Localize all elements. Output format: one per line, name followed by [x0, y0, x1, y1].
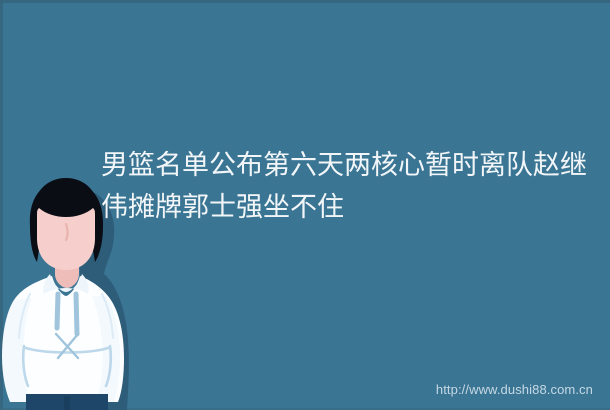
headline-text: 男篮名单公布第六天两核心暂时离队赵继伟摊牌郭士强坐不住: [101, 144, 601, 228]
card-top-edge: [0, 0, 610, 3]
trousers: [26, 394, 108, 410]
site-watermark: http://www.dushi88.com.cn: [436, 382, 593, 398]
news-thumbnail-card: 男篮名单公布第六天两核心暂时离队赵继伟摊牌郭士强坐不住 http://www.d…: [0, 0, 610, 410]
